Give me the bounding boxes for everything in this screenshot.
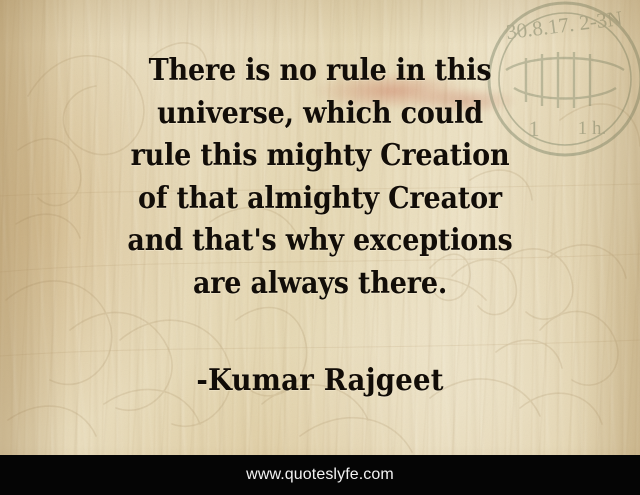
quote-line: of that almighty Creator xyxy=(55,178,584,221)
quote-line: rule this mighty Creation xyxy=(55,135,584,178)
quote-line: There is no rule in this xyxy=(55,50,584,93)
quote-text-block: There is no rule in this universe, which… xyxy=(0,50,640,305)
quote-card: 30.8.17. 2-3N 1 h. 1 There is no rule in… xyxy=(0,0,640,495)
quote-line: and that's why exceptions xyxy=(55,220,584,263)
quote-line: universe, which could xyxy=(55,93,584,136)
footer-website-url[interactable]: www.quoteslyfe.com xyxy=(246,466,394,484)
svg-text:30.8.17. 2-3N: 30.8.17. 2-3N xyxy=(505,6,624,44)
quote-line: are always there. xyxy=(55,263,584,306)
footer-bar: www.quoteslyfe.com xyxy=(0,455,640,495)
quote-attribution: -Kumar Rajgeet xyxy=(26,363,615,398)
